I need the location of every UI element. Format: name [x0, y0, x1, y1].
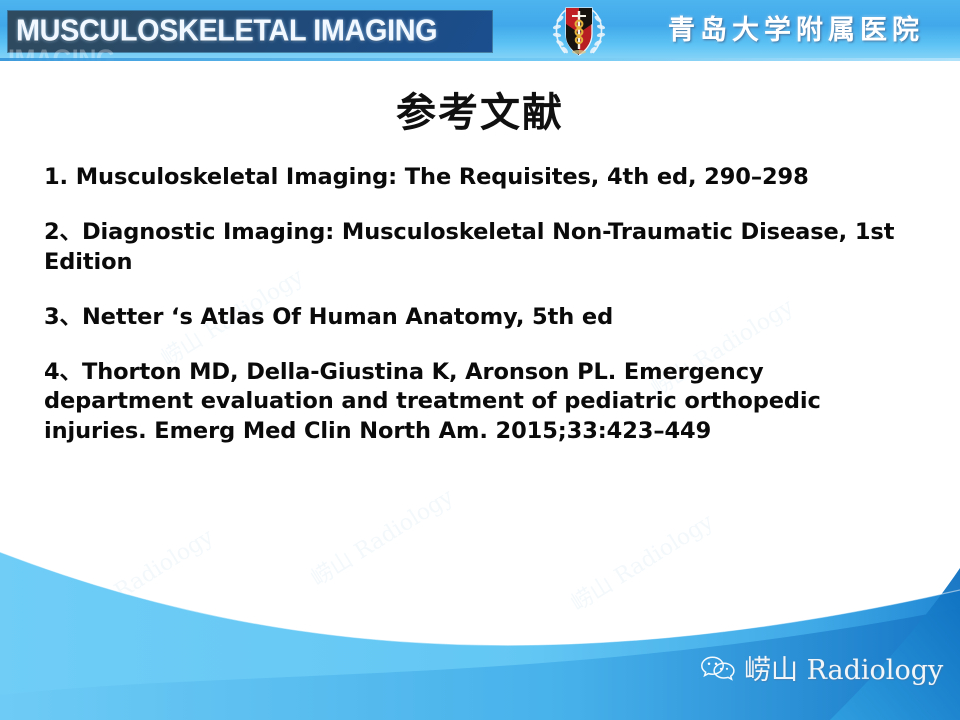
reference-item: 2、Diagnostic Imaging: Musculoskeletal No…: [44, 218, 916, 277]
background-watermark: 崂山 Radiology: [564, 504, 719, 617]
series-banner-title: MUSCULOSKELETAL IMAGING: [16, 12, 437, 48]
background-watermark: 崂山 Radiology: [304, 479, 459, 592]
slide-canvas: 崂山 Radiology 崂山 Radiology 崂山 Radiology 崂…: [0, 0, 960, 720]
hospital-crest-icon: [548, 2, 610, 60]
reference-item: 1. Musculoskeletal Imaging: The Requisit…: [44, 163, 916, 192]
reference-item: 3、Netter ‘s Atlas Of Human Anatomy, 5th …: [44, 303, 916, 332]
background-watermark: 崂山 Radiology: [64, 519, 219, 632]
footer-wave-decoration: [0, 490, 960, 720]
wechat-icon: [700, 654, 736, 682]
watermark-label: 崂山 Radiology: [744, 648, 943, 687]
header-band: MUSCULOSKELETAL IMAGING IMAGING: [0, 0, 960, 61]
page-title: 参考文献: [0, 80, 960, 138]
reference-list: 1. Musculoskeletal Imaging: The Requisit…: [44, 163, 916, 446]
reference-item: 4、Thorton MD, Della-Giustina K, Aronson …: [44, 358, 916, 446]
hospital-name-label: 青岛大学附属医院: [668, 12, 924, 50]
channel-watermark: 崂山 Radiology: [700, 648, 943, 687]
